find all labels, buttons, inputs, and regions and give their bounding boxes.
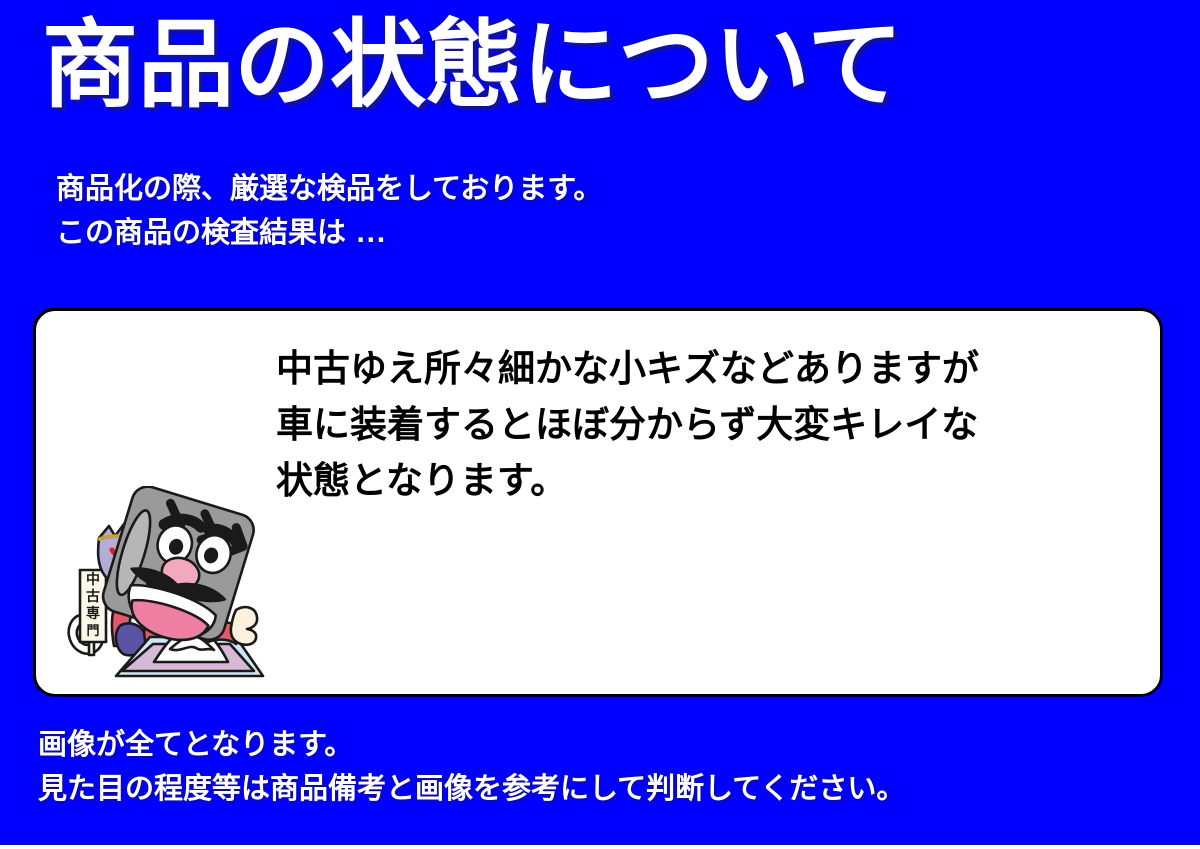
condition-text-block: 中古ゆえ所々細かな小キズなどありますが 車に装着するとほぼ分からず大変キレイな … bbox=[276, 341, 979, 509]
page-title: 商品の状態について bbox=[42, 14, 903, 118]
intro-text-block: 商品化の際、厳選な検品をしております。 この商品の検査結果は ... bbox=[56, 166, 602, 256]
intro-line-2: この商品の検査結果は bbox=[56, 215, 346, 249]
condition-line-1: 中古ゆえ所々細かな小キズなどありますが bbox=[276, 341, 979, 397]
bottom-white-strip bbox=[0, 845, 1200, 849]
sign-char-2: 古 bbox=[86, 588, 100, 605]
intro-ellipsis: ... bbox=[356, 220, 386, 248]
sign-char-1: 中 bbox=[86, 571, 100, 588]
intro-line-1: 商品化の際、厳選な検品をしております。 bbox=[56, 166, 602, 210]
condition-line-3: 状態となります。 bbox=[276, 453, 979, 509]
condition-result-card: 中古ゆえ所々細かな小キズなどありますが 車に装着するとほぼ分からず大変キレイな … bbox=[33, 308, 1163, 697]
intro-line-2-wrapper: この商品の検査結果は ... bbox=[56, 210, 602, 256]
footer-line-2: 見た目の程度等は商品備考と画像を参考にして判断してください。 bbox=[38, 766, 905, 810]
sign-char-4: 門 bbox=[86, 624, 99, 639]
product-condition-banner: 商品の状態について 商品化の際、厳選な検品をしております。 この商品の検査結果は… bbox=[0, 0, 1200, 849]
tire-mascot-illustration: 中 古 専 門 bbox=[58, 486, 273, 681]
condition-line-2: 車に装着するとほぼ分からず大変キレイな bbox=[276, 397, 979, 453]
footer-text-block: 画像が全てとなります。 見た目の程度等は商品備考と画像を参考にして判断してくださ… bbox=[38, 722, 905, 810]
sign-char-3: 専 bbox=[86, 605, 100, 622]
footer-line-1: 画像が全てとなります。 bbox=[38, 722, 905, 766]
